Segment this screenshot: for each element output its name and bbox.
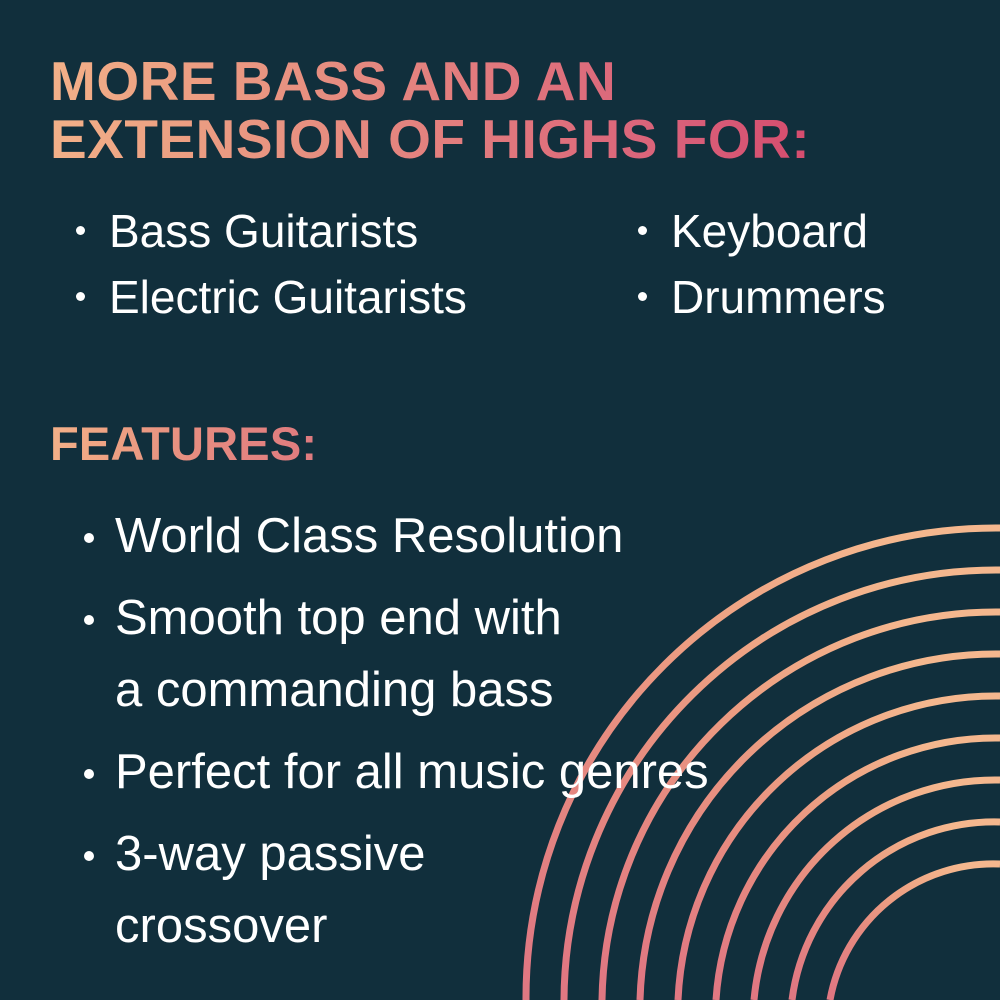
list-item: Drummers <box>600 264 1000 330</box>
main-heading: MORE BASS AND AN EXTENSION OF HIGHS FOR: <box>50 52 810 168</box>
bullet-icon <box>84 851 94 861</box>
audience-column-right: Keyboard Drummers <box>600 198 1000 330</box>
list-item: Bass Guitarists <box>0 198 600 264</box>
audience-column-left: Bass Guitarists Electric Guitarists <box>0 198 600 330</box>
bullet-icon <box>84 769 94 779</box>
audience-label: Keyboard <box>671 198 868 264</box>
feature-label: World Class Resolution <box>115 500 623 572</box>
bullet-icon <box>638 226 647 235</box>
promo-poster: MORE BASS AND AN EXTENSION OF HIGHS FOR:… <box>0 0 1000 1000</box>
bullet-icon <box>76 292 85 301</box>
list-item: Smooth top end with a commanding bass <box>0 582 1000 726</box>
audience-label: Bass Guitarists <box>109 198 418 264</box>
bullet-icon <box>84 533 94 543</box>
audience-label: Drummers <box>671 264 886 330</box>
audience-list: Bass Guitarists Electric Guitarists Keyb… <box>0 198 1000 330</box>
list-item: Keyboard <box>600 198 1000 264</box>
bullet-icon <box>638 292 647 301</box>
feature-label: Perfect for all music genres <box>115 736 709 808</box>
bullet-icon <box>84 615 94 625</box>
list-item: World Class Resolution <box>0 500 1000 572</box>
feature-label: Smooth top end with a commanding bass <box>115 582 562 726</box>
features-list: World Class Resolution Smooth top end wi… <box>0 500 1000 972</box>
list-item: Electric Guitarists <box>0 264 600 330</box>
main-heading-line-1: MORE BASS AND AN <box>50 52 810 110</box>
features-heading: FEATURES: <box>50 418 317 470</box>
bullet-icon <box>76 226 85 235</box>
list-item: Perfect for all music genres <box>0 736 1000 808</box>
audience-label: Electric Guitarists <box>109 264 467 330</box>
main-heading-line-2: EXTENSION OF HIGHS FOR: <box>50 110 810 168</box>
list-item: 3-way passive crossover <box>0 818 1000 962</box>
feature-label: 3-way passive crossover <box>115 818 425 962</box>
